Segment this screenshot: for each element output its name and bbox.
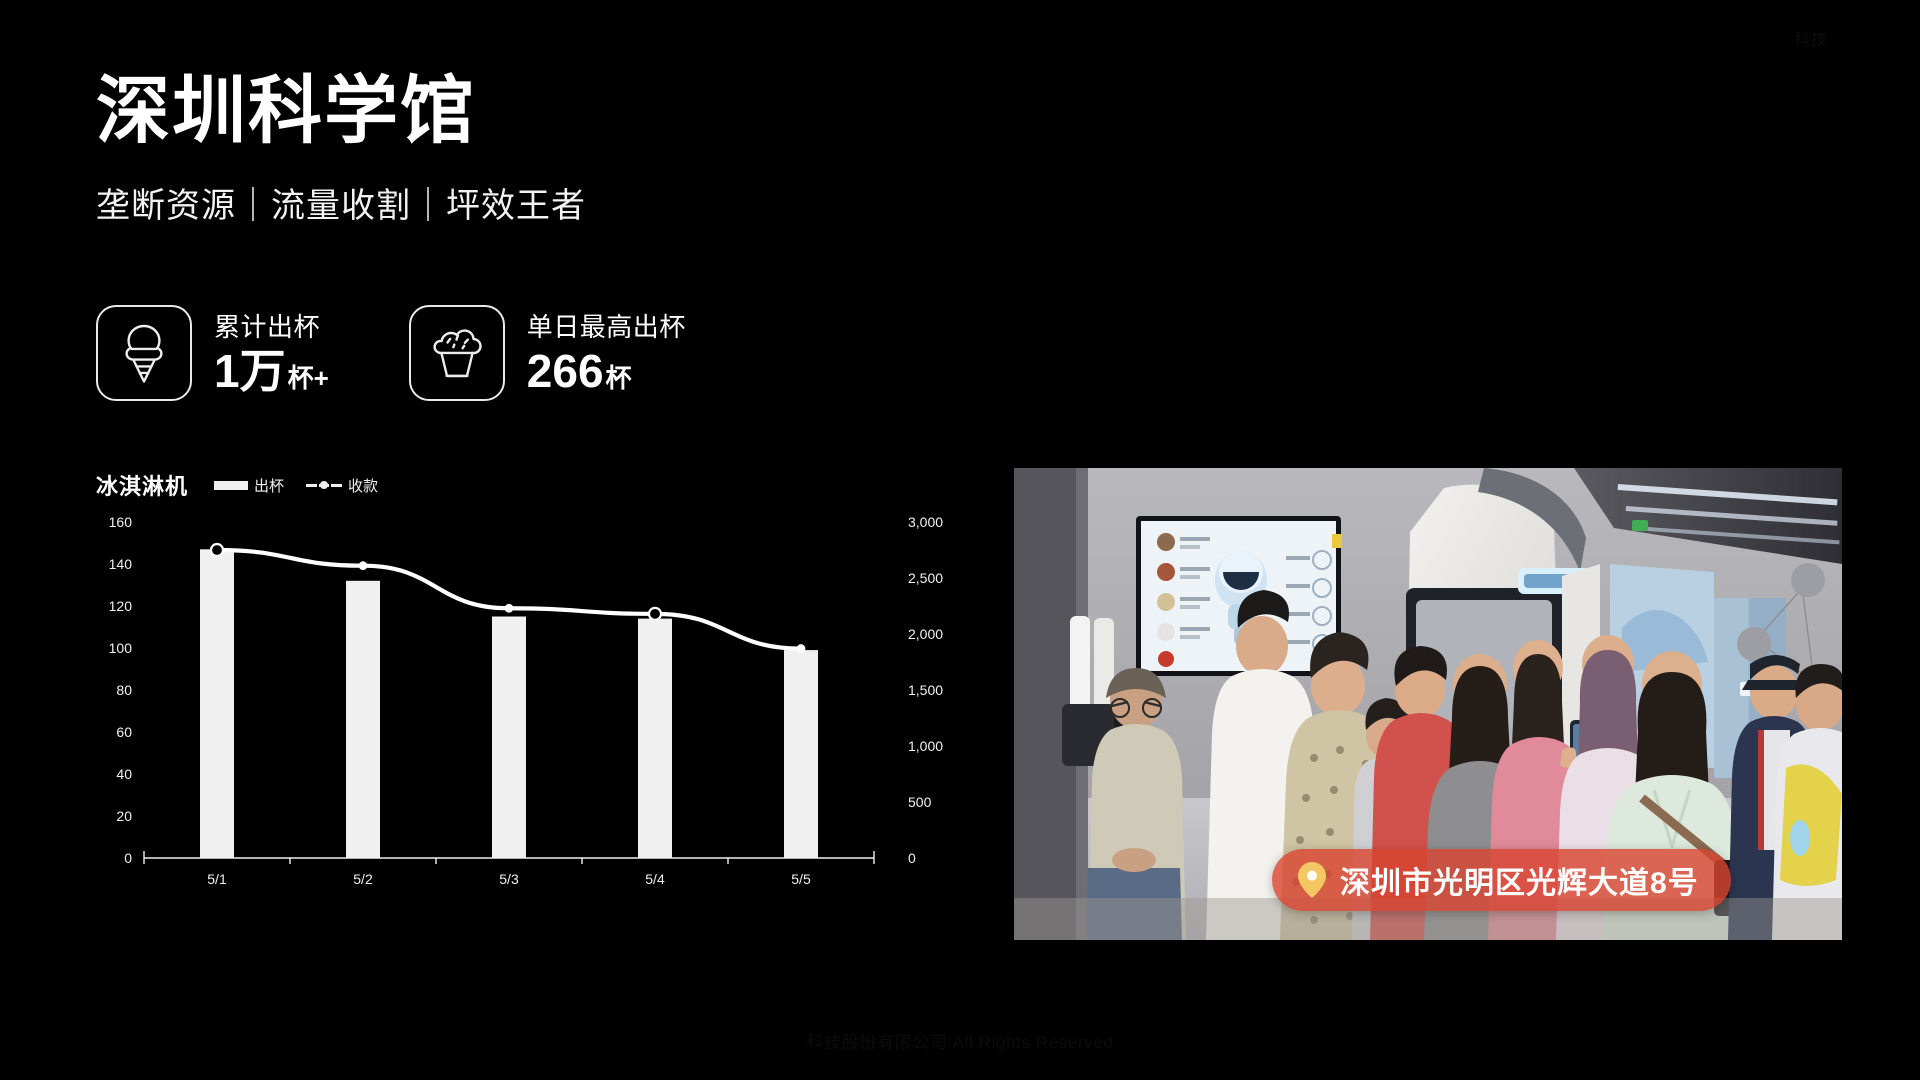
chart-legend: 出杯 收款	[214, 475, 378, 496]
chart-line-marker	[505, 605, 512, 612]
chart-line-marker	[211, 544, 223, 556]
chart-header: 冰淇淋机 出杯 收款	[96, 470, 966, 500]
stat-number: 266	[527, 348, 604, 394]
chart-line-marker	[649, 608, 661, 620]
chart-panel: 冰淇淋机 出杯 收款 02040608010012014016005001,00…	[96, 470, 966, 930]
y-axis-left-tick: 160	[109, 514, 133, 530]
chart-bar	[784, 650, 818, 858]
stat-text-daily-peak-cups: 单日最高出杯 266 杯	[527, 311, 686, 395]
y-axis-left-tick: 0	[124, 850, 132, 866]
venue-photo: 深圳市光明区光辉大道8号	[1014, 468, 1842, 940]
y-axis-right-tick: 1,000	[908, 738, 943, 754]
stat-label: 累计出杯	[214, 311, 329, 344]
stat-card-daily-peak-cups: 单日最高出杯 266 杯	[409, 305, 686, 401]
stat-unit: 杯	[606, 358, 632, 395]
header: 深圳科学馆 垄断资源｜流量收割｜坪效王者	[96, 72, 586, 227]
chart-line-marker	[797, 645, 804, 652]
legend-label: 收款	[348, 475, 378, 496]
chart-line-marker	[359, 562, 366, 569]
y-axis-right-tick: 2,500	[908, 570, 943, 586]
stats-row: 累计出杯 1万 杯+ 单日最高出杯 266 杯	[96, 305, 686, 401]
stat-value: 266 杯	[527, 348, 686, 395]
address-text: 深圳市光明区光辉大道8号	[1340, 858, 1699, 902]
legend-item-bars: 出杯	[214, 475, 284, 496]
address-badge: 深圳市光明区光辉大道8号	[1272, 849, 1731, 911]
x-axis-tick-label: 5/4	[645, 871, 665, 887]
stat-card-cumulative-cups: 累计出杯 1万 杯+	[96, 305, 329, 401]
watermark-top-right: 科技	[1794, 26, 1828, 50]
location-pin-icon	[1298, 862, 1326, 898]
y-axis-right-tick: 1,500	[908, 682, 943, 698]
x-axis-tick-label: 5/2	[353, 871, 373, 887]
chart-plot-area: 02040608010012014016005001,0001,5002,000…	[96, 514, 966, 904]
page-title: 深圳科学馆	[96, 72, 586, 150]
chart-bar	[200, 549, 234, 858]
y-axis-right-tick: 500	[908, 794, 932, 810]
x-axis-tick-label: 5/1	[207, 871, 227, 887]
chart-bar	[346, 581, 380, 858]
x-axis-tick-label: 5/3	[499, 871, 519, 887]
chart-bar	[638, 619, 672, 858]
stat-unit: 杯+	[288, 358, 329, 395]
y-axis-right-tick: 2,000	[908, 626, 943, 642]
y-axis-right-tick: 3,000	[908, 514, 943, 530]
watermark-bottom: 科技股份有限公司 All Rights Reserved	[0, 1028, 1920, 1053]
y-axis-left-tick: 100	[109, 640, 133, 656]
y-axis-left-tick: 20	[116, 808, 132, 824]
stat-value: 1万 杯+	[214, 348, 329, 395]
page-subtitle: 垄断资源｜流量收割｜坪效王者	[96, 178, 586, 227]
x-axis-tick-label: 5/5	[791, 871, 811, 887]
y-axis-left-tick: 60	[116, 724, 132, 740]
cupcake-icon	[409, 305, 505, 401]
y-axis-left-tick: 40	[116, 766, 132, 782]
legend-label: 出杯	[254, 475, 284, 496]
stat-label: 单日最高出杯	[527, 311, 686, 344]
y-axis-left-tick: 140	[109, 556, 133, 572]
y-axis-right-tick: 0	[908, 850, 916, 866]
legend-line-swatch	[306, 480, 342, 490]
stat-text-cumulative-cups: 累计出杯 1万 杯+	[214, 311, 329, 395]
legend-item-line: 收款	[306, 475, 378, 496]
chart-bar	[492, 617, 526, 859]
chart-svg: 02040608010012014016005001,0001,5002,000…	[96, 514, 966, 904]
ice-cream-cone-icon	[96, 305, 192, 401]
y-axis-left-tick: 120	[109, 598, 133, 614]
chart-title: 冰淇淋机	[96, 469, 188, 501]
stat-number: 1万	[214, 348, 286, 394]
y-axis-left-tick: 80	[116, 682, 132, 698]
legend-bar-swatch	[214, 481, 248, 490]
